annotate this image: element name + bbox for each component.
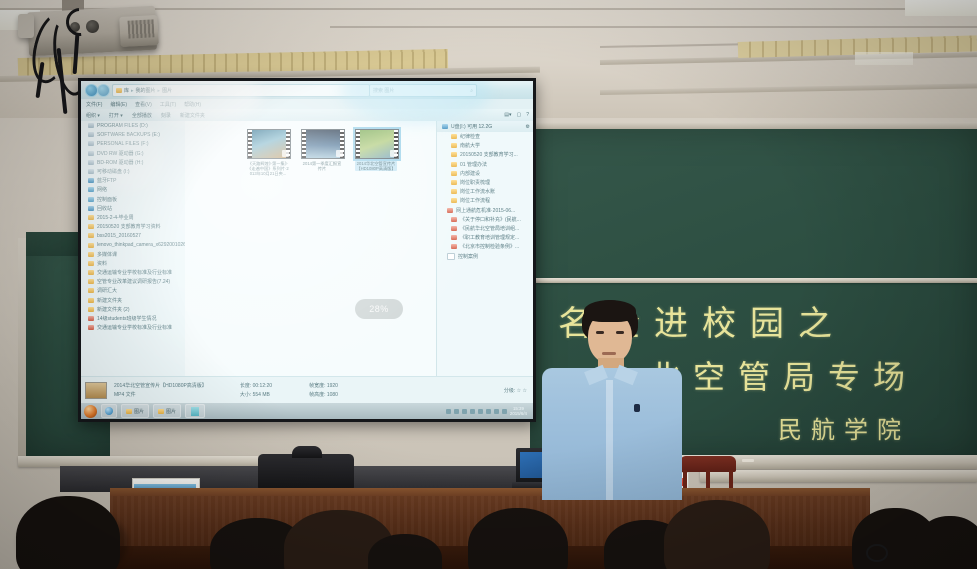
explorer-window: 库 ▸ 我的图片 ▸ 图片 搜索 图片 ⌕ 文件(F) 编辑(E) 查看(V) … — [81, 81, 533, 419]
folder-icon — [88, 298, 94, 303]
tray-network-icon[interactable] — [454, 409, 459, 414]
speaker-mouth — [602, 352, 616, 355]
nav-item-label: bss2015_20160527 — [97, 233, 141, 239]
nav-item[interactable]: DVD RW 驱动器 (G:) — [81, 149, 185, 158]
clock-date: 2015/6/4 — [510, 411, 527, 416]
ceiling-vent — [855, 52, 913, 65]
student-head — [16, 496, 120, 569]
status-thumbnail — [85, 382, 107, 399]
nav-item[interactable]: 新建文件夹 (2) — [81, 305, 185, 314]
nav-item[interactable]: 交通运输专业学校标准及行业标准 — [81, 323, 185, 332]
new-folder-button[interactable]: 新建文件夹 — [180, 112, 205, 119]
backpack-handle — [292, 446, 322, 458]
folder-icon — [451, 171, 457, 176]
folder-icon — [451, 143, 457, 148]
blackboard-line-3: 民航学院 — [778, 410, 910, 445]
file-content-pane[interactable]: 《天路辉煌》·第一集》·《走遍中国》系列片·2013年10月21日央... 20… — [185, 121, 437, 377]
usb-drive-label: U盘(I:) 可用 12.2G — [451, 123, 492, 130]
nav-item-label: 回收站 — [97, 205, 112, 212]
nav-item-label: PERSONAL FILES (F:) — [97, 141, 149, 147]
menu-help[interactable]: 帮助(H) — [184, 101, 201, 108]
speaker — [534, 300, 694, 500]
chalk-piece — [742, 459, 754, 462]
speaker-shirt-placket — [606, 380, 613, 500]
breadcrumb-item-1[interactable]: 我的图片 — [136, 87, 156, 94]
status-rating[interactable]: 分级: ☆ ☆ — [504, 387, 527, 394]
breadcrumb[interactable]: 库 ▸ 我的图片 ▸ 图片 — [112, 84, 370, 97]
status-size-column: 长度: 00:12:20 大小: 554 MB — [240, 382, 272, 398]
nav-item[interactable]: 20150520 支部教育学习资料 — [81, 222, 185, 231]
taskbar[interactable]: 图片 图片 — [81, 403, 533, 419]
breadcrumb-item-0[interactable]: 库 — [124, 87, 129, 94]
projection-screen: 库 ▸ 我的图片 ▸ 图片 搜索 图片 ⌕ 文件(F) 编辑(E) 查看(V) … — [78, 78, 536, 422]
play-overlay-icon — [336, 150, 343, 157]
nav-item[interactable]: bss2015_20160527 — [81, 231, 185, 240]
folder-icon — [88, 307, 94, 312]
nav-item-label: 调研汇大 — [97, 287, 117, 294]
projector-vent — [128, 19, 155, 38]
usb-item[interactable]: 控制案例 — [437, 251, 533, 260]
folder-icon — [116, 88, 122, 93]
nav-item[interactable]: 交通运输专业学校标准及行业标准 — [81, 268, 185, 277]
nav-item-label: 14级students班级学生情况 — [97, 315, 156, 322]
thumbnail-image — [247, 129, 291, 159]
document-icon — [447, 253, 455, 260]
thumbnail-image — [301, 129, 345, 159]
ceiling-light — [905, 0, 977, 16]
gear-icon[interactable]: ⚙ — [526, 124, 533, 130]
usb-item[interactable]: 《民航华北空管局培训组... — [437, 224, 533, 233]
usb-item-label: 南航大学 — [460, 142, 480, 149]
folder-icon — [88, 233, 94, 238]
folder-icon — [451, 134, 457, 139]
system-tray[interactable]: 15:39 2015/6/4 — [446, 406, 533, 416]
explorer-body: PROGRAM FILES (D:) SOFTWARE BACKUPS (E:)… — [81, 121, 533, 377]
nav-item[interactable]: 控制面板 — [81, 195, 185, 204]
usb-item-label: 《民航华北空管局培训组... — [460, 225, 519, 232]
usb-item-label: 《关于停口和补充》(民航... — [460, 216, 521, 223]
status-rating-column[interactable]: 分级: ☆ ☆ — [504, 387, 533, 394]
status-duration: 长度: 00:12:20 — [240, 382, 272, 389]
taskbar-browser-icon[interactable] — [101, 404, 117, 418]
control-panel-icon — [88, 197, 94, 202]
tray-bluetooth-icon[interactable] — [462, 409, 467, 414]
student-head — [664, 500, 770, 569]
usb-item-label: 20150520 支部教育学习... — [460, 151, 518, 158]
network-icon — [88, 187, 94, 192]
thumbnail-image — [355, 129, 399, 159]
nav-item-label: 蓝牙FTP — [97, 177, 116, 184]
speaker-shirt-logo — [634, 404, 640, 412]
folder-icon — [88, 288, 94, 293]
drive-icon — [88, 123, 94, 128]
search-placeholder: 搜索 图片 — [373, 87, 394, 94]
usb-item[interactable]: 《关于停口和补充》(民航... — [437, 215, 533, 224]
recycle-bin-icon — [88, 206, 94, 211]
open-button[interactable]: 打开 ▾ — [109, 112, 123, 119]
usb-item-label: 岗位职责梳理 — [460, 179, 490, 186]
breadcrumb-separator: ▸ — [131, 88, 134, 94]
taskbar-clock[interactable]: 15:39 2015/6/4 — [510, 406, 530, 416]
usb-item[interactable]: 南航大学 — [437, 141, 533, 150]
nav-item-label: 交通运输专业学校标准及行业标准 — [97, 324, 172, 331]
start-orb-icon[interactable] — [84, 405, 97, 418]
help-icon[interactable]: ? — [526, 112, 529, 118]
nav-item[interactable]: PERSONAL FILES (F:) — [81, 139, 185, 148]
search-icon: ⌕ — [470, 88, 473, 94]
nav-item[interactable]: 新建文件夹 — [81, 296, 185, 305]
usb-item[interactable]: 01 管理办法 — [437, 160, 533, 169]
nav-item-label: 多媒体课 — [97, 251, 117, 258]
explorer-toolbar[interactable]: 组织 ▾ 打开 ▾ 全部播放 刻录 新建文件夹 ▤▾ ▢ ? — [81, 109, 533, 121]
nav-item[interactable]: lenovo_thinkpad_camera_x62920010269 — [81, 240, 185, 249]
nav-item[interactable]: 可移动磁盘 (I:) — [81, 167, 185, 176]
nav-item[interactable]: 网络 — [81, 185, 185, 194]
document-icon — [88, 325, 94, 330]
folder-icon — [88, 252, 94, 257]
folder-icon — [88, 215, 94, 220]
nav-item[interactable]: PROGRAM FILES (D:) — [81, 121, 185, 130]
speaker-hair-top — [584, 300, 636, 322]
thumbnail-caption: 《天路辉煌》·第一集》·《走遍中国》系列片·2013年10月21日央... — [247, 161, 289, 177]
nav-item-label: 2015-2-4-毕业周 — [97, 214, 134, 221]
menu-file[interactable]: 文件(F) — [86, 101, 102, 108]
status-filetype: MP4 文件 — [114, 391, 207, 398]
play-all-button[interactable]: 全部播放 — [132, 112, 152, 119]
drive-icon — [88, 169, 94, 174]
nav-item-label: BD-ROM 驱动器 (H:) — [97, 159, 143, 166]
speaker-eye-left — [596, 331, 604, 334]
folder-icon — [88, 243, 94, 248]
usb-icon — [442, 124, 448, 129]
nav-item[interactable]: BD-ROM 驱动器 (H:) — [81, 158, 185, 167]
folder-icon — [451, 152, 457, 157]
nav-item[interactable]: 资料 — [81, 259, 185, 268]
folder-icon — [158, 409, 164, 414]
folder-icon — [88, 261, 94, 266]
document-icon — [88, 316, 94, 321]
taskbar-explorer-button[interactable]: 图片 — [121, 404, 149, 418]
breadcrumb-item-2[interactable]: 图片 — [162, 87, 172, 94]
usb-item[interactable]: 岗位工作流程 — [437, 196, 533, 205]
projector-label — [18, 14, 34, 38]
word-doc-icon — [451, 235, 457, 240]
nav-item-label: 资料 — [97, 260, 107, 267]
word-doc-icon — [451, 226, 457, 231]
navigation-pane[interactable]: PROGRAM FILES (D:) SOFTWARE BACKUPS (E:)… — [81, 121, 185, 377]
usb-item-label: 内部建设 — [460, 170, 480, 177]
blackboard-frame-top — [530, 122, 977, 129]
nav-item[interactable]: 回收站 — [81, 204, 185, 213]
nav-item-label: 新建文件夹 (2) — [97, 306, 130, 313]
nav-item[interactable]: 14级students班级学生情况 — [81, 314, 185, 323]
projected-desktop: 库 ▸ 我的图片 ▸ 图片 搜索 图片 ⌕ 文件(F) 编辑(E) 查看(V) … — [81, 81, 533, 419]
nav-item-label: 控制面板 — [97, 196, 117, 203]
nav-item-label: 新建文件夹 — [97, 297, 122, 304]
folder-icon — [451, 162, 457, 167]
video-thumbnail[interactable]: 《天路辉煌》·第一集》·《走遍中国》系列片·2013年10月21日央... — [247, 129, 289, 177]
bluetooth-icon — [88, 178, 94, 183]
preview-pane-button[interactable]: ▢ — [516, 112, 521, 118]
film-strip-left — [302, 130, 306, 158]
nav-item[interactable]: 2015-2-4-毕业周 — [81, 213, 185, 222]
usb-item-label: 岗位工作流程 — [460, 197, 490, 204]
nav-item-label: SOFTWARE BACKUPS (E:) — [97, 132, 160, 138]
status-frame-width: 帧宽度: 1920 — [309, 382, 338, 389]
view-mode-button[interactable]: ▤▾ — [504, 112, 511, 118]
folder-icon — [88, 224, 94, 229]
nav-item[interactable]: 调研汇大 — [81, 286, 185, 295]
breadcrumb-separator: ▸ — [158, 88, 161, 94]
thumbnail-grid[interactable]: 《天路辉煌》·第一集》·《走遍中国》系列片·2013年10月21日央... 20… — [247, 129, 397, 177]
usb-item-label: 纪律检查 — [460, 133, 480, 140]
chalk-rail-lower — [700, 470, 977, 482]
menu-view[interactable]: 查看(V) — [135, 101, 152, 108]
nav-item[interactable]: 空管专业改革建议调研报告(7.24) — [81, 277, 185, 286]
search-input[interactable]: 搜索 图片 ⌕ — [369, 84, 477, 97]
nav-item-label: 网络 — [97, 186, 107, 193]
usb-item[interactable]: 20150520 支部教育学习... — [437, 150, 533, 159]
status-bar: 2014华北空管宣传片【HD1080P高清版】 MP4 文件 长度: 00:12… — [81, 376, 533, 403]
word-doc-icon — [451, 244, 457, 249]
usb-item-label: 网上通航危机准·2015-06... — [456, 207, 515, 214]
folder-icon — [451, 180, 457, 185]
folder-icon — [88, 279, 94, 284]
taskbar-app-button[interactable] — [185, 404, 205, 418]
forward-button[interactable] — [97, 84, 110, 97]
status-filename: 2014华北空管宣传片【HD1080P高清版】 — [114, 382, 207, 389]
usb-item[interactable]: 内部建设 — [437, 169, 533, 178]
video-thumbnail-selected[interactable]: 2014华北空管宣传片【HD1080P高清版】 — [355, 129, 397, 177]
document-icon — [447, 208, 453, 213]
eyeglasses-icon — [866, 544, 888, 562]
tray-app-icon[interactable] — [494, 409, 499, 414]
ceiling-seam — [330, 26, 977, 28]
nav-item-label: 20150520 支部教育学习资料 — [97, 223, 161, 230]
thumbnail-caption: 2014华北空管宣传片【HD1080P高清版】 — [355, 161, 397, 171]
nav-item-label: PROGRAM FILES (D:) — [97, 123, 148, 129]
menu-bar[interactable]: 文件(F) 编辑(E) 查看(V) 工具(T) 帮助(H) — [81, 99, 533, 109]
usb-item[interactable]: 网上通航危机准·2015-06... — [437, 206, 533, 215]
tray-arrow-icon[interactable] — [446, 409, 451, 414]
usb-item-label: 《北京市控制检验条例》... — [460, 243, 519, 250]
usb-item-label: 岗位工作流水账 — [460, 188, 495, 195]
film-strip-left — [356, 130, 360, 158]
word-doc-icon — [451, 217, 457, 222]
usb-item[interactable]: 岗位职责梳理 — [437, 178, 533, 187]
tray-volume-icon[interactable] — [478, 409, 483, 414]
burn-button[interactable]: 刻录 — [161, 112, 171, 119]
usb-item[interactable]: 《职工教育培训管理规定... — [437, 233, 533, 242]
tray-shield-icon[interactable] — [470, 409, 475, 414]
video-thumbnail[interactable]: 2014第一季度汇报宣传片 — [301, 129, 343, 177]
taskbar-button-label: 图片 — [166, 408, 176, 415]
usb-item[interactable]: 纪律检查 — [437, 132, 533, 141]
nav-item[interactable]: 蓝牙FTP — [81, 176, 185, 185]
film-strip-left — [248, 130, 252, 158]
status-size: 大小: 554 MB — [240, 391, 272, 398]
thumbnail-caption: 2014第一季度汇报宣传片 — [301, 161, 343, 171]
folder-icon — [451, 198, 457, 203]
speaker-eye-right — [616, 331, 624, 334]
nav-item[interactable]: 多媒体课 — [81, 250, 185, 259]
status-name-column: 2014华北空管宣传片【HD1080P高清版】 MP4 文件 — [114, 382, 207, 398]
nav-item-label: 可移动磁盘 (I:) — [97, 168, 130, 175]
classroom-photo: 名企进校园之 北空管局专场 民航学院 库 ▸ 我的图片 ▸ 图片 — [0, 0, 977, 569]
usb-item-label: 控制案例 — [458, 253, 478, 260]
menu-tools[interactable]: 工具(T) — [160, 101, 176, 108]
nav-item-label: DVD RW 驱动器 (G:) — [97, 150, 144, 157]
progress-badge: 28% — [355, 299, 403, 319]
drive-icon — [88, 160, 94, 165]
usb-item-label: 《职工教育培训管理规定... — [460, 234, 519, 241]
nav-item-label: 空管专业改革建议调研报告(7.24) — [97, 278, 170, 285]
usb-item[interactable]: 岗位工作流水账 — [437, 187, 533, 196]
usb-drive-pane[interactable]: U盘(I:) 可用 12.2G ⚙ 纪律检查 南航大学 20150520 支部教… — [436, 121, 533, 377]
nav-item[interactable]: SOFTWARE BACKUPS (E:) — [81, 130, 185, 139]
usb-item[interactable]: 《北京市控制检验条例》... — [437, 242, 533, 251]
menu-edit[interactable]: 编辑(E) — [110, 101, 127, 108]
usb-item-label: 01 管理办法 — [460, 161, 487, 168]
nav-item-label: 交通运输专业学校标准及行业标准 — [97, 269, 172, 276]
folder-icon — [126, 409, 132, 414]
usb-drive-header: U盘(I:) 可用 12.2G ⚙ — [437, 121, 533, 132]
taskbar-explorer-button[interactable]: 图片 — [153, 404, 181, 418]
tray-app-icon[interactable] — [502, 409, 507, 414]
backpack — [258, 454, 354, 490]
status-dimension-column: 帧宽度: 1920 帧高度: 1080 — [309, 382, 338, 398]
play-overlay-icon — [282, 150, 289, 157]
taskbar-button-label: 图片 — [134, 408, 144, 415]
drive-icon — [88, 151, 94, 156]
play-overlay-icon — [390, 150, 397, 157]
tray-app-icon[interactable] — [486, 409, 491, 414]
blackboard-divider-rail — [530, 278, 977, 283]
folder-icon — [88, 270, 94, 275]
status-frame-height: 帧高度: 1080 — [309, 391, 338, 398]
nav-item-label: lenovo_thinkpad_camera_x62920010269 — [97, 242, 185, 248]
organize-button[interactable]: 组织 ▾ — [86, 112, 100, 119]
drive-icon — [88, 141, 94, 146]
folder-icon — [451, 189, 457, 194]
drive-icon — [88, 132, 94, 137]
